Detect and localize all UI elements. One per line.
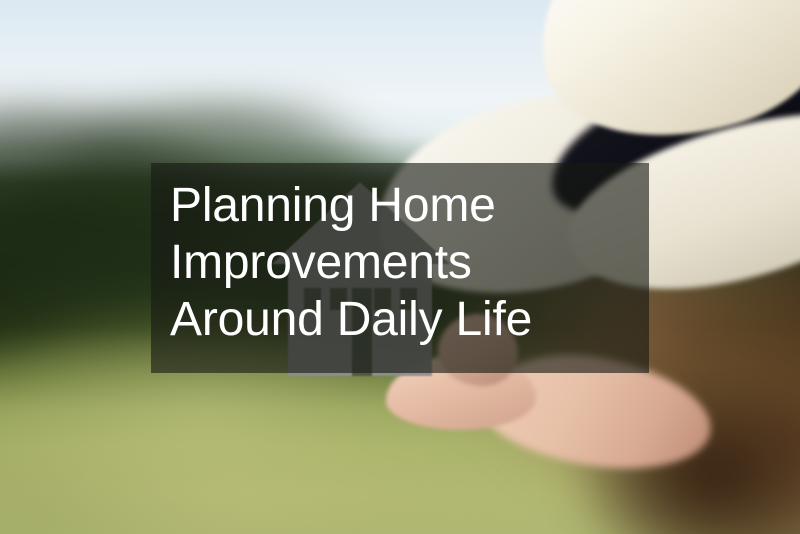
- page-title: Planning Home Improvements Around Daily …: [170, 177, 640, 348]
- hero-banner: Planning Home Improvements Around Daily …: [0, 0, 800, 534]
